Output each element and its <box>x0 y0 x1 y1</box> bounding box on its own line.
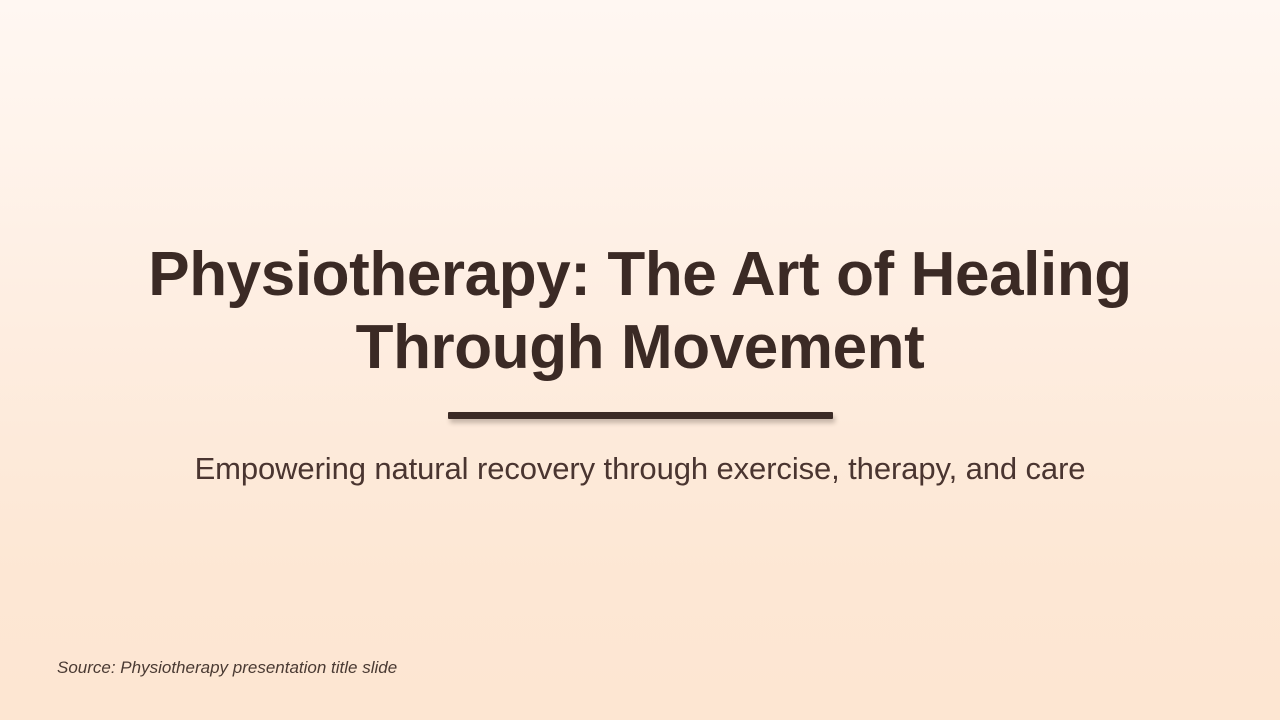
subtitle-block: Empowering natural recovery through exer… <box>70 447 1210 491</box>
source-caption: Source: Physiotherapy presentation title… <box>57 656 397 680</box>
title-slide: Physiotherapy: The Art of Healing Throug… <box>0 0 1280 720</box>
page-title: Physiotherapy: The Art of Healing Throug… <box>90 238 1190 384</box>
source-block: Source: Physiotherapy presentation title… <box>57 656 397 680</box>
slide-content: Physiotherapy: The Art of Healing Throug… <box>0 0 1280 720</box>
slide-subtitle: Empowering natural recovery through exer… <box>70 447 1210 491</box>
divider-container <box>0 412 1280 419</box>
title-divider-rule <box>448 412 833 419</box>
title-block: Physiotherapy: The Art of Healing Throug… <box>90 238 1190 384</box>
